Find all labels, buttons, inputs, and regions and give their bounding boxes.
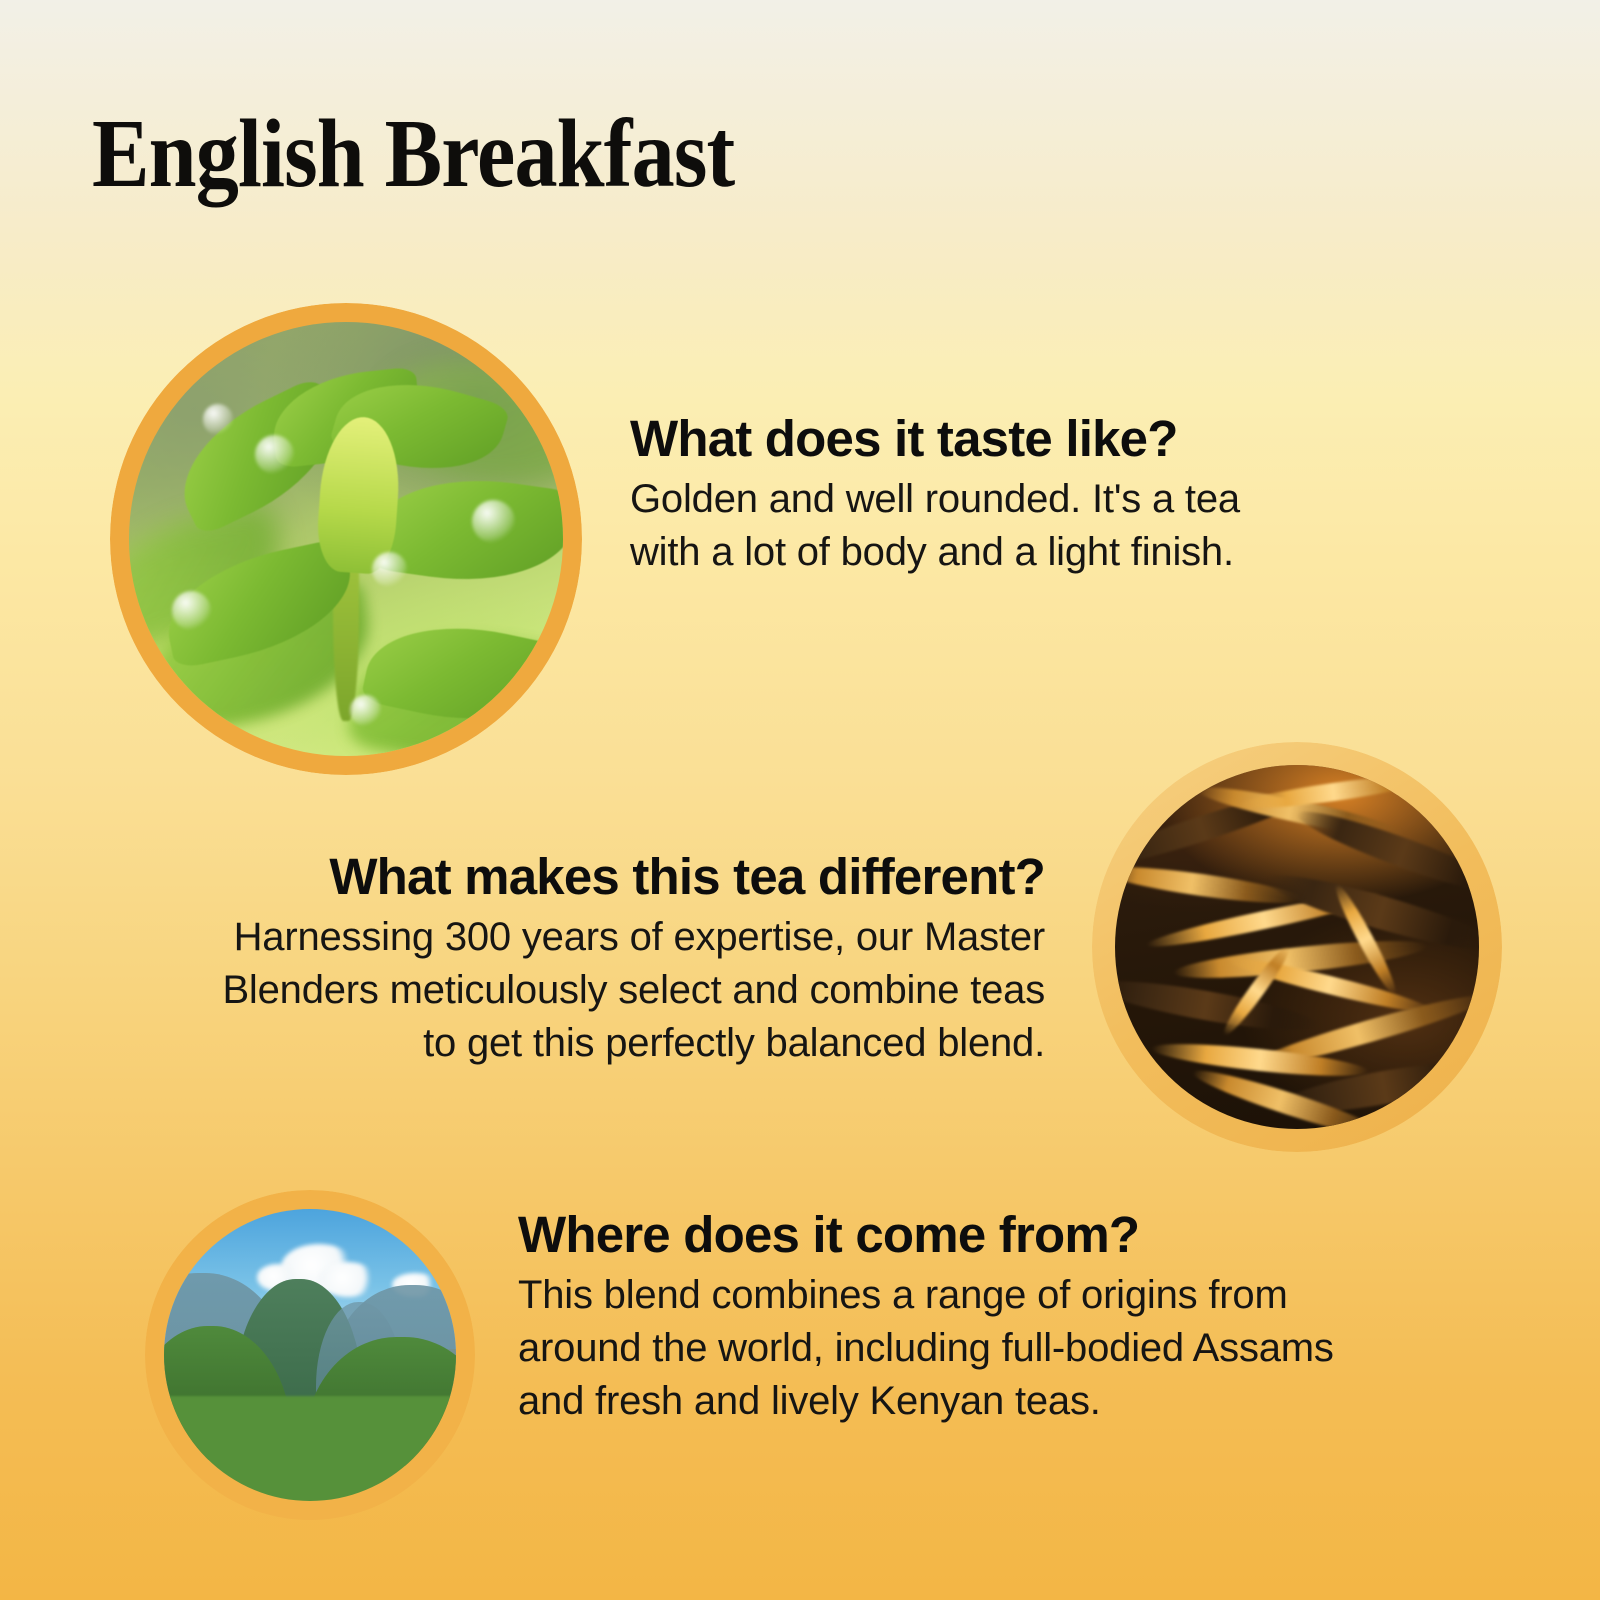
section-origin-heading: Where does it come from? [518,1206,1398,1263]
section-origin-body: This blend combines a range of origins f… [518,1269,1398,1427]
section-different-body: Harnessing 300 years of expertise, our M… [163,911,1045,1069]
tea-plant-photo-image [129,322,563,756]
mountain-landscape-photo [145,1190,475,1520]
section-origin: Where does it come from? This blend comb… [518,1206,1398,1428]
section-taste-body: Golden and well rounded. It's a tea with… [630,473,1410,579]
dried-tea-leaves-photo-image [1115,765,1479,1129]
section-different-body-line-2: Blenders meticulously select and combine… [163,964,1045,1017]
section-taste-heading: What does it taste like? [630,410,1410,467]
dew-drop-d [372,552,407,587]
dew-drop-a [203,404,233,434]
section-origin-body-line-1: This blend combines a range of origins f… [518,1269,1398,1322]
section-different-heading: What makes this tea different? [163,848,1045,905]
section-origin-body-line-2: around the world, including full-bodied … [518,1322,1398,1375]
section-taste: What does it taste like? Golden and well… [630,410,1410,579]
dew-drop-f [350,695,380,725]
forest-canopy [164,1396,456,1501]
tea-plant-photo [110,303,582,775]
section-origin-body-line-3: and fresh and lively Kenyan teas. [518,1375,1398,1428]
dew-drop-b [255,435,294,474]
mountain-landscape-photo-image [164,1209,456,1501]
section-different-body-line-1: Harnessing 300 years of expertise, our M… [163,911,1045,964]
dried-tea-leaves-photo [1092,742,1502,1152]
page-title: English Breakfast [92,105,734,205]
section-taste-body-line-1: Golden and well rounded. It's a tea [630,473,1410,526]
section-different: What makes this tea different? Harnessin… [163,848,1045,1070]
section-different-body-line-3: to get this perfectly balanced blend. [163,1017,1045,1070]
section-taste-body-line-2: with a lot of body and a light finish. [630,526,1410,579]
